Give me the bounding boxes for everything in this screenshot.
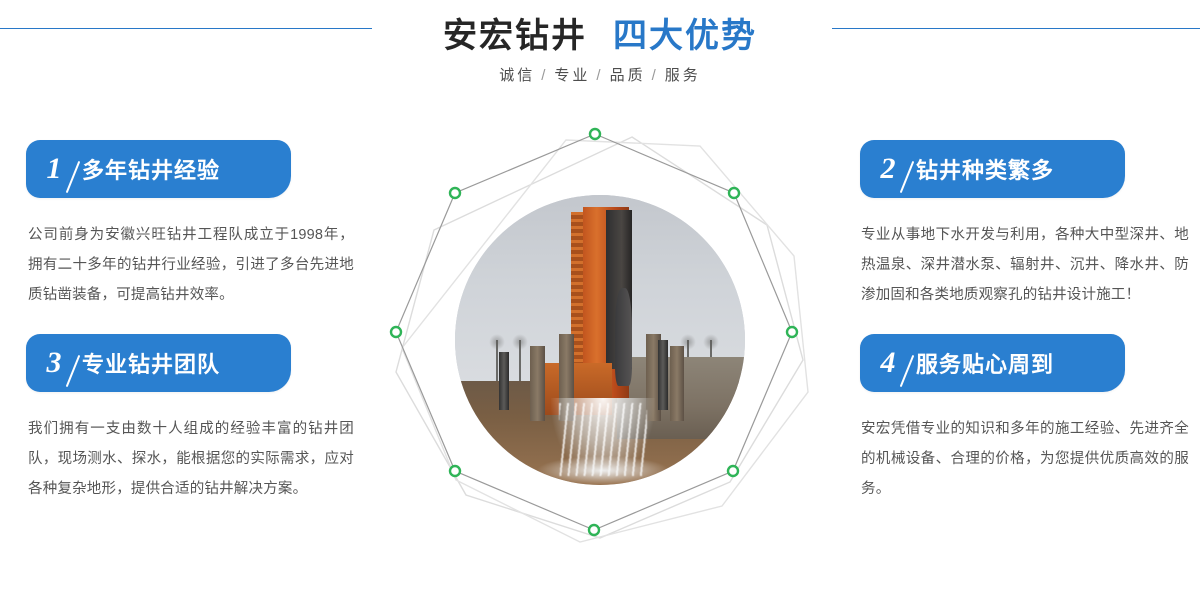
feature-title-4: 服务贴心周到 bbox=[912, 347, 1054, 379]
photo-support-post-1 bbox=[530, 346, 545, 421]
feature-number-1: 1 bbox=[26, 154, 78, 184]
subtitle-item-0: 诚信 bbox=[499, 67, 535, 84]
feature-badge-2[interactable]: 2 钻井种类繁多 bbox=[860, 140, 1125, 198]
photo-rig-hose bbox=[615, 288, 632, 387]
feature-text-3: 我们拥有一支由数十人组成的经验丰富的钻井团队，现场测水、探水，能根据您的实际需求… bbox=[20, 414, 360, 504]
drilling-rig-photo bbox=[455, 195, 745, 485]
photo-scene bbox=[455, 195, 745, 485]
vertex-dot-left bbox=[391, 327, 401, 337]
subtitle-separator-0: / bbox=[541, 67, 548, 84]
photo-tree-left bbox=[496, 340, 498, 386]
feature-card-4: 4 服务贴心周到 安宏凭借专业的知识和多年的施工经验、先进齐全的机械设备、合理的… bbox=[855, 334, 1195, 504]
feature-number-4: 4 bbox=[860, 348, 912, 378]
page-root: 安宏钻井四大优势 诚信/专业/品质/服务 1 多年钻井经验 公司前身为安徽兴旺钻… bbox=[0, 0, 1200, 600]
feature-text-2: 专业从事地下水开发与利用，各种大中型深井、地热温泉、深井潜水泵、辐射井、沉井、降… bbox=[855, 220, 1195, 310]
vertex-dot-right bbox=[787, 327, 797, 337]
subtitle-item-3: 服务 bbox=[665, 67, 701, 84]
feature-title-2: 钻井种类繁多 bbox=[912, 153, 1054, 185]
feature-number-2: 2 bbox=[860, 154, 912, 184]
feature-badge-1[interactable]: 1 多年钻井经验 bbox=[26, 140, 291, 198]
photo-cylinder-1 bbox=[499, 352, 509, 410]
vertex-dot-top bbox=[590, 129, 600, 139]
subtitle-separator-1: / bbox=[596, 67, 603, 84]
title-company: 安宏钻井 bbox=[443, 17, 587, 55]
page-header: 安宏钻井四大优势 诚信/专业/品质/服务 bbox=[0, 0, 1200, 110]
subtitle-item-2: 品质 bbox=[610, 67, 646, 84]
feature-title-3: 专业钻井团队 bbox=[78, 347, 220, 379]
center-graphic bbox=[370, 110, 830, 570]
feature-title-1: 多年钻井经验 bbox=[78, 153, 220, 185]
feature-text-1: 公司前身为安徽兴旺钻井工程队成立于1998年，拥有二十多年的钻井行业经验，引进了… bbox=[20, 220, 360, 310]
features-column-right: 2 钻井种类繁多 专业从事地下水开发与利用，各种大中型深井、地热温泉、深井潜水泵… bbox=[855, 140, 1195, 504]
feature-card-2: 2 钻井种类繁多 专业从事地下水开发与利用，各种大中型深井、地热温泉、深井潜水泵… bbox=[855, 140, 1195, 310]
features-column-left: 1 多年钻井经验 公司前身为安徽兴旺钻井工程队成立于1998年，拥有二十多年的钻… bbox=[20, 140, 360, 504]
subtitle-separator-2: / bbox=[652, 67, 659, 84]
feature-card-1: 1 多年钻井经验 公司前身为安徽兴旺钻井工程队成立于1998年，拥有二十多年的钻… bbox=[20, 140, 360, 310]
photo-support-post-4 bbox=[670, 346, 685, 421]
feature-card-3: 3 专业钻井团队 我们拥有一支由数十人组成的经验丰富的钻井团队，现场测水、探水，… bbox=[20, 334, 360, 504]
feature-badge-3[interactable]: 3 专业钻井团队 bbox=[26, 334, 291, 392]
photo-water-splash bbox=[536, 456, 669, 485]
subtitle-row: 诚信/专业/品质/服务 bbox=[0, 64, 1200, 85]
feature-badge-4[interactable]: 4 服务贴心周到 bbox=[860, 334, 1125, 392]
feature-text-4: 安宏凭借专业的知识和多年的施工经验、先进齐全的机械设备、合理的价格，为您提供优质… bbox=[855, 414, 1195, 504]
subtitle-item-1: 专业 bbox=[554, 67, 590, 84]
photo-tree-left2 bbox=[519, 340, 521, 386]
page-title: 安宏钻井四大优势 bbox=[0, 8, 1200, 57]
feature-number-3: 3 bbox=[26, 348, 78, 378]
vertex-dot-bottom bbox=[589, 525, 599, 535]
photo-cylinder-2 bbox=[658, 340, 668, 410]
title-highlight: 四大优势 bbox=[613, 17, 757, 55]
